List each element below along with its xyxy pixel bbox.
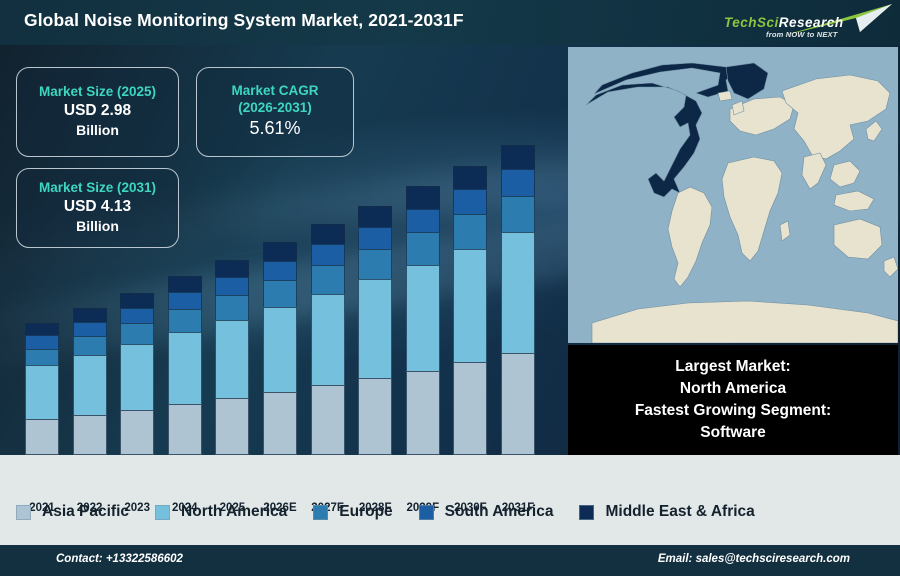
bar-2028F <box>358 206 392 455</box>
infographic-root: Global Noise Monitoring System Market, 2… <box>0 0 900 576</box>
techsci-logo: TechSciResearch from NOW to NEXT <box>714 2 894 44</box>
callout-fastest-segment-label: Fastest Growing Segment: <box>568 400 898 422</box>
bar-segment-north-america <box>406 265 440 371</box>
chart-legend: Asia PacificNorth AmericaEuropeSouth Ame… <box>0 487 900 537</box>
stacked-bar-chart: 202120222023202420252026E2027F2028F2029F… <box>8 45 564 455</box>
bar-segment-asia-pacific <box>406 371 440 455</box>
bar-segment-middle-east-africa <box>358 206 392 227</box>
logo-wordmark: TechSciResearch <box>724 15 844 30</box>
bar-segment-north-america <box>120 344 154 409</box>
bar-segment-asia-pacific <box>453 362 487 455</box>
bar-segment-north-america <box>215 320 249 398</box>
bar-segment-north-america <box>358 279 392 378</box>
footer-bar: Contact: +13322586602 Email: sales@techs… <box>0 545 900 576</box>
bar-segment-south-america <box>73 322 107 337</box>
bar-segment-middle-east-africa <box>453 166 487 190</box>
legend-item-north-america[interactable]: North America <box>155 503 287 521</box>
bar-segment-middle-east-africa <box>263 242 297 260</box>
bar-segment-south-america <box>263 261 297 281</box>
bar-segment-north-america <box>73 355 107 415</box>
bar-segment-asia-pacific <box>168 404 202 455</box>
bar-segment-middle-east-africa <box>215 260 249 277</box>
bar-2029F <box>406 186 440 455</box>
bar-segment-europe <box>501 196 535 232</box>
legend-swatch-icon <box>155 505 170 520</box>
bar-segment-south-america <box>120 308 154 324</box>
world-map-svg <box>568 47 898 343</box>
bar-2022 <box>73 308 107 455</box>
map-region-iceland <box>718 91 732 101</box>
bar-2031F <box>501 145 535 456</box>
bar-2027F <box>311 224 345 455</box>
legend-label: Europe <box>339 503 392 521</box>
bar-segment-north-america <box>263 307 297 392</box>
bar-2024 <box>168 276 202 455</box>
bar-segment-south-america <box>358 227 392 249</box>
bar-segment-europe <box>73 336 107 355</box>
bar-2030F <box>453 166 487 455</box>
legend-item-asia-pacific[interactable]: Asia Pacific <box>16 503 129 521</box>
bar-segment-south-america <box>168 292 202 309</box>
legend-label: South America <box>445 503 554 521</box>
bar-segment-europe <box>311 265 345 294</box>
callout-largest-market-label: Largest Market: <box>568 356 898 378</box>
bar-segment-south-america <box>311 244 345 265</box>
world-map <box>568 47 898 343</box>
bar-segment-north-america <box>25 365 59 419</box>
callout-largest-market-value: North America <box>568 378 898 400</box>
bar-2025 <box>215 260 249 455</box>
bar-segment-north-america <box>311 294 345 386</box>
legend-item-europe[interactable]: Europe <box>313 503 392 521</box>
page-title: Global Noise Monitoring System Market, 2… <box>24 10 464 31</box>
bar-segment-asia-pacific <box>25 419 59 455</box>
logo-tech-text: TechSci <box>724 15 779 30</box>
bar-2021 <box>25 323 59 455</box>
logo-tagline: from NOW to NEXT <box>766 30 838 39</box>
bar-segment-south-america <box>215 277 249 295</box>
bar-segment-europe <box>168 309 202 332</box>
legend-item-south-america[interactable]: South America <box>419 503 554 521</box>
bar-segment-north-america <box>168 332 202 404</box>
bar-segment-europe <box>120 323 154 344</box>
bar-segment-middle-east-africa <box>120 293 154 308</box>
bar-segment-south-america <box>453 189 487 214</box>
bar-segment-south-america <box>406 209 440 233</box>
logo-research-text: Research <box>779 15 844 30</box>
bar-segment-north-america <box>453 249 487 363</box>
bar-2026E <box>263 242 297 455</box>
legend-label: Middle East & Africa <box>605 503 754 521</box>
bar-segment-europe <box>25 349 59 366</box>
bar-segment-europe <box>406 232 440 264</box>
header-bar: Global Noise Monitoring System Market, 2… <box>0 0 900 45</box>
bar-segment-asia-pacific <box>120 410 154 455</box>
footer-email: Email: sales@techsciresearch.com <box>658 553 850 565</box>
callout-fastest-segment-value: Software <box>568 422 898 444</box>
bar-segment-middle-east-africa <box>25 323 59 335</box>
bar-segment-middle-east-africa <box>73 308 107 321</box>
legend-item-middle-east-africa[interactable]: Middle East & Africa <box>579 503 754 521</box>
bar-segment-asia-pacific <box>73 415 107 455</box>
bar-segment-middle-east-africa <box>311 224 345 244</box>
legend-swatch-icon <box>313 505 328 520</box>
footer-contact: Contact: +13322586602 <box>56 553 183 565</box>
bar-segment-north-america <box>501 232 535 353</box>
legend-label: North America <box>181 503 287 521</box>
bar-segment-europe <box>215 295 249 320</box>
bar-segment-asia-pacific <box>358 378 392 455</box>
bar-segment-asia-pacific <box>263 392 297 455</box>
bar-segment-middle-east-africa <box>501 145 535 170</box>
legend-swatch-icon <box>579 505 594 520</box>
bar-segment-europe <box>453 214 487 248</box>
bar-segment-europe <box>263 280 297 307</box>
callout-box: Largest Market: North America Fastest Gr… <box>568 345 898 455</box>
bar-segment-middle-east-africa <box>168 276 202 292</box>
bar-segment-asia-pacific <box>501 353 535 455</box>
bar-segment-middle-east-africa <box>406 186 440 208</box>
bar-segment-asia-pacific <box>311 385 345 455</box>
bar-2023 <box>120 293 154 455</box>
bar-segment-europe <box>358 249 392 279</box>
legend-swatch-icon <box>419 505 434 520</box>
bar-segment-south-america <box>25 335 59 348</box>
legend-label: Asia Pacific <box>42 503 129 521</box>
bar-segment-asia-pacific <box>215 398 249 455</box>
bar-segment-south-america <box>501 169 535 195</box>
legend-swatch-icon <box>16 505 31 520</box>
